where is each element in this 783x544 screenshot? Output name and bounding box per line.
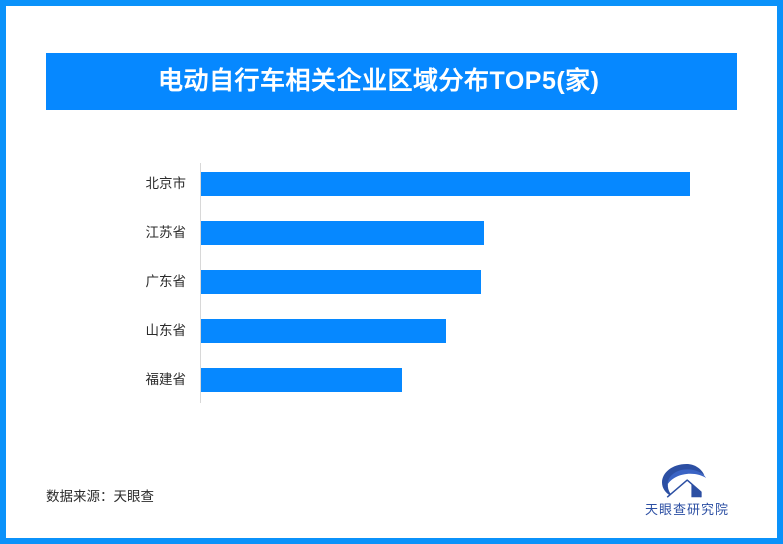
- frame-border-top: [0, 0, 783, 6]
- bar-category-label: 山东省: [66, 324, 186, 338]
- brand-name-label: 天眼查研究院: [645, 503, 729, 516]
- bar-category-label: 广东省: [66, 275, 186, 289]
- page-title: 电动自行车相关企业区域分布TOP5(家): [158, 69, 600, 94]
- bar-value[interactable]: [201, 319, 446, 343]
- brand-logo: 天眼查研究院: [627, 462, 747, 524]
- data-source-note: 数据来源：天眼查: [46, 490, 154, 504]
- chart-bar-row: 广东省: [0, 261, 783, 310]
- infographic-canvas: 电动自行车相关企业区域分布TOP5(家) 北京市 江苏省 广东省 山东省 福建省…: [0, 0, 783, 544]
- frame-border-bottom: [0, 538, 783, 544]
- bar-category-label: 江苏省: [66, 226, 186, 240]
- chart-bar-row: 北京市: [0, 163, 783, 212]
- bar-value[interactable]: [201, 172, 690, 196]
- tianyancha-eye-icon: [659, 462, 715, 500]
- bar-chart: 北京市 江苏省 广东省 山东省 福建省: [0, 140, 783, 420]
- bar-value[interactable]: [201, 368, 402, 392]
- chart-bar-row: 福建省: [0, 359, 783, 408]
- chart-bar-row: 江苏省: [0, 212, 783, 261]
- bar-category-label: 福建省: [66, 373, 186, 387]
- bar-category-label: 北京市: [66, 177, 186, 191]
- bar-value[interactable]: [201, 221, 484, 245]
- title-banner: 电动自行车相关企业区域分布TOP5(家): [46, 53, 737, 110]
- chart-bar-row: 山东省: [0, 310, 783, 359]
- bar-value[interactable]: [201, 270, 481, 294]
